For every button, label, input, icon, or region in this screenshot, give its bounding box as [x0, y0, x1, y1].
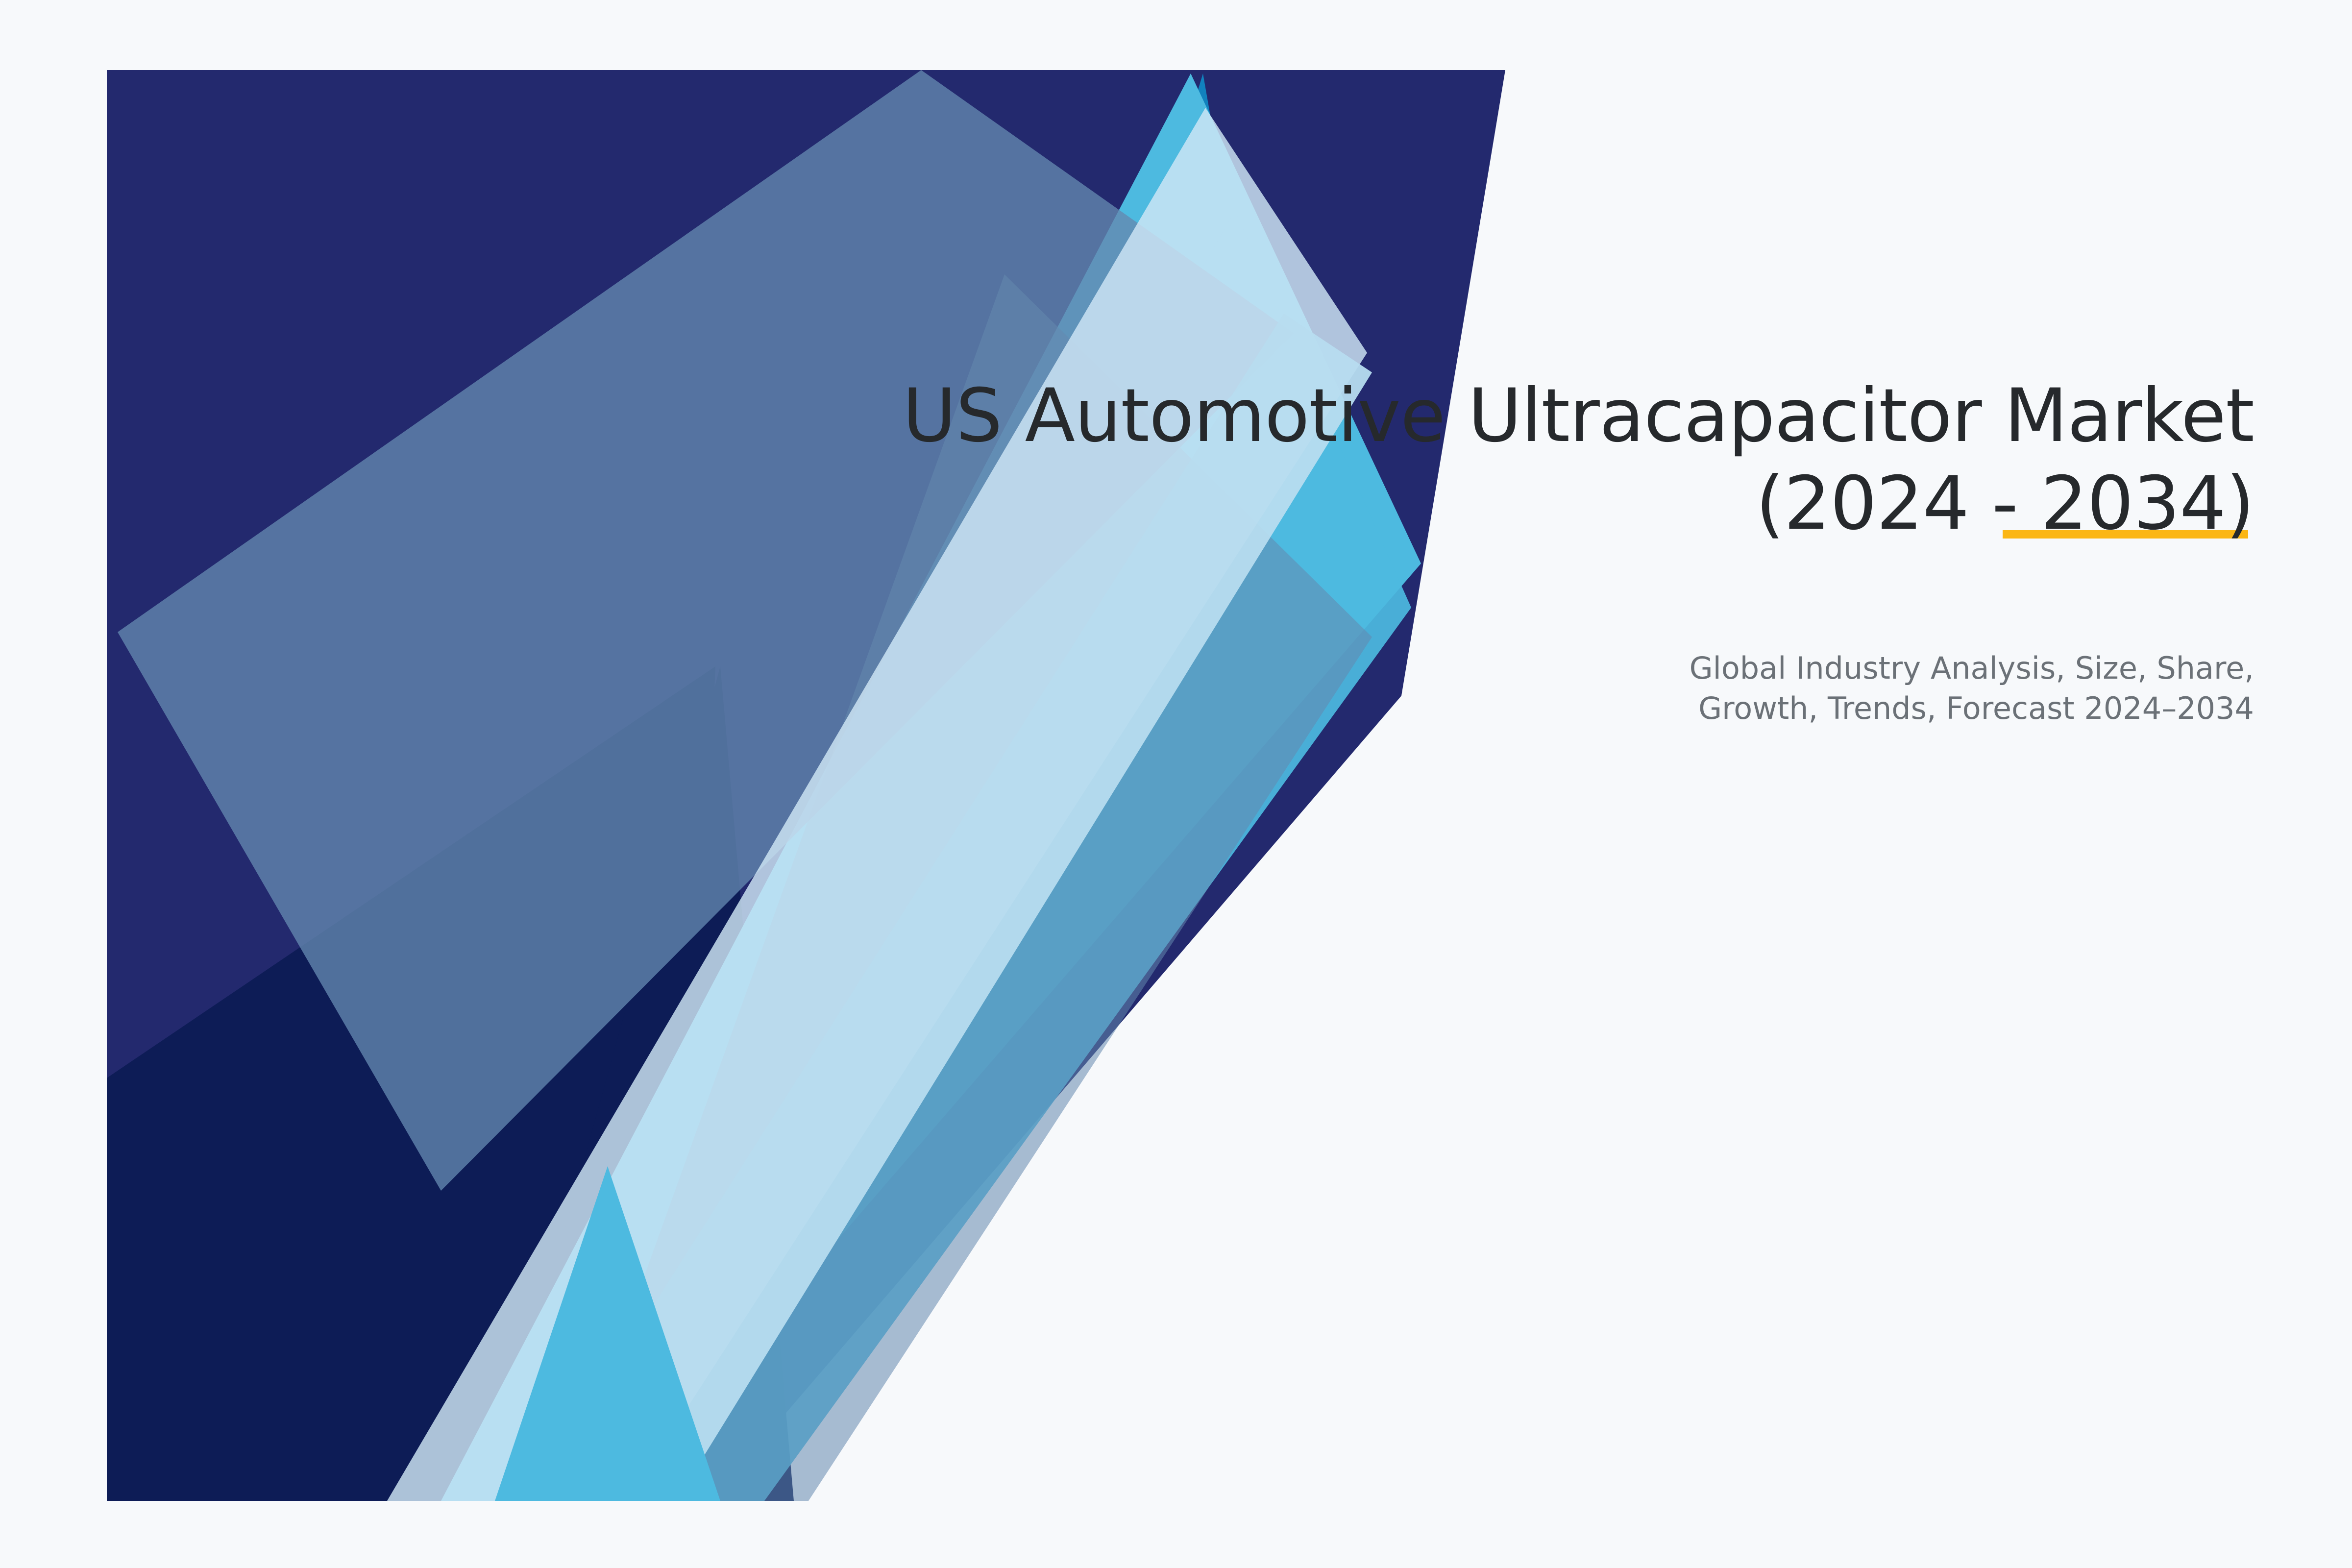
- report-cover-page: US Automotive Ultracapacitor Market (202…: [0, 0, 2352, 1568]
- report-subtitle: Global Industry Analysis, Size, Share, G…: [1421, 648, 2254, 729]
- report-title: US Automotive Ultracapacitor Market (202…: [833, 372, 2254, 547]
- abstract-geometric-artwork: [0, 0, 2352, 1568]
- cover-text-block: US Automotive Ultracapacitor Market (202…: [833, 372, 2254, 547]
